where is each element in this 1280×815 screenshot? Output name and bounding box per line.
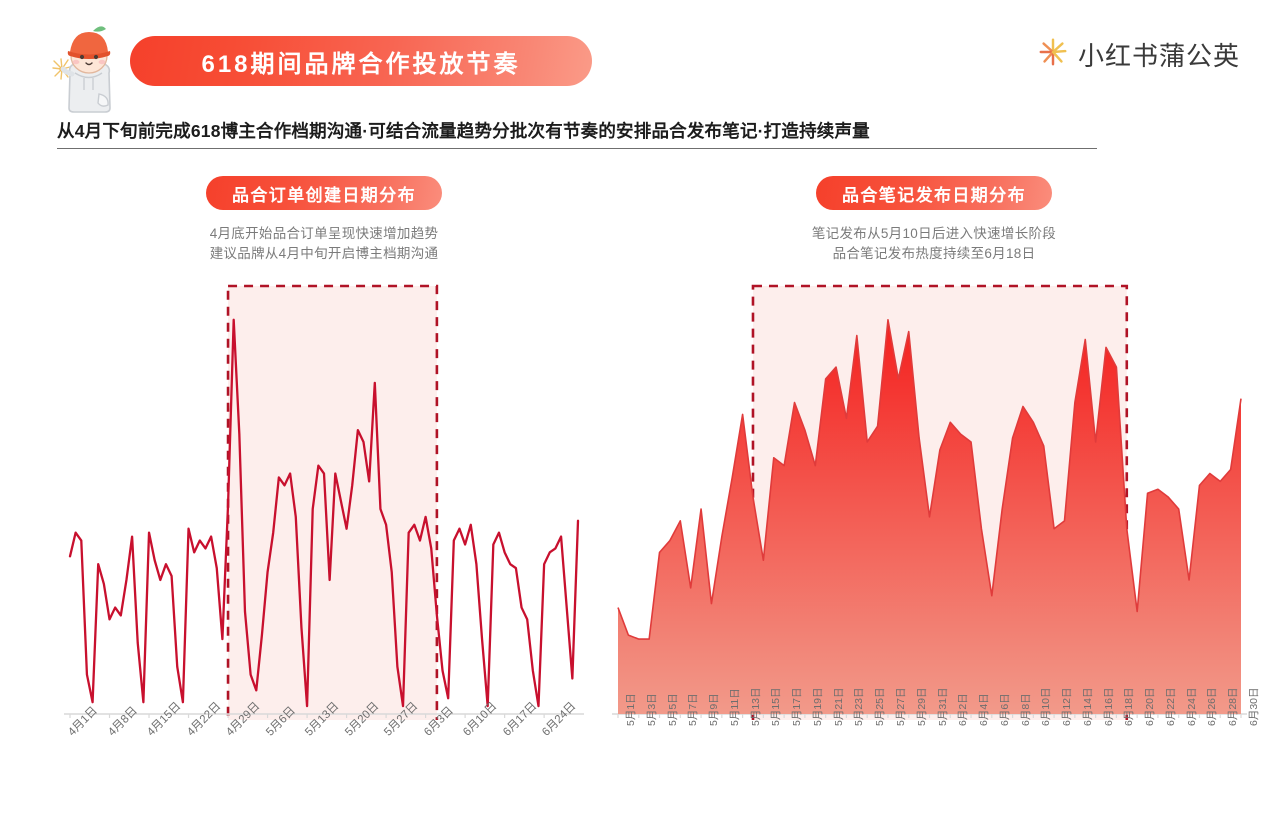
x-axis-tick-label: 5月25日 — [872, 687, 887, 726]
chart-title: 品合笔记发布日期分布 — [842, 181, 1026, 206]
panel-header: 品合订单创建日期分布 4月底开始品合订单呈现快速增加趋势 建议品牌从4月中旬开启… — [44, 176, 604, 264]
chart-note: 4月底开始品合订单呈现快速增加趋势 建议品牌从4月中旬开启博主档期沟通 — [210, 224, 439, 264]
x-axis-tick-label: 5月9日 — [706, 693, 721, 726]
area-chart-note-publish: 5月1日5月3日5月5日5月7日5月9日5月11日5月13日5月15日5月17日… — [608, 280, 1253, 720]
x-axis-tick-label: 5月7日 — [685, 693, 700, 726]
x-axis-tick-label: 6月28日 — [1225, 687, 1240, 726]
x-axis-tick-label: 6月6日 — [997, 693, 1012, 726]
x-axis-tick-label: 5月27日 — [893, 687, 908, 726]
dandelion-sparkle-icon — [1037, 36, 1069, 73]
x-axis-tick-label: 5月17日 — [789, 687, 804, 726]
page-header: 618期间品牌合作投放节奏 小红书蒲公英 — [0, 0, 1280, 110]
page-title: 618期间品牌合作投放节奏 — [201, 44, 520, 79]
chart-note-line1: 4月底开始品合订单呈现快速增加趋势 — [210, 224, 439, 244]
x-axis-tick-label: 5月1日 — [623, 693, 638, 726]
panel-note-publish: 品合笔记发布日期分布 笔记发布从5月10日后进入快速增长阶段 品合笔记发布热度持… — [604, 176, 1264, 720]
x-axis-tick-label: 6月26日 — [1204, 687, 1219, 726]
line-chart-order-creation: 4月1日4月8日4月15日4月22日4月29日5月6日5月13日5月20日5月2… — [52, 280, 592, 720]
x-axis-tick-label: 6月10日 — [1038, 687, 1053, 726]
chart-title-pill: 品合订单创建日期分布 — [206, 176, 442, 210]
x-axis-tick-labels: 5月1日5月3日5月5日5月7日5月9日5月11日5月13日5月15日5月17日… — [608, 720, 1253, 815]
page-subtitle: 从4月下旬前完成618博主合作档期沟通·可结合流量趋势分批次有节奏的安排品合发布… — [57, 118, 1097, 149]
chart-note-line1: 笔记发布从5月10日后进入快速增长阶段 — [812, 224, 1056, 244]
panel-header: 品合笔记发布日期分布 笔记发布从5月10日后进入快速增长阶段 品合笔记发布热度持… — [604, 176, 1264, 264]
panel-order-creation: 品合订单创建日期分布 4月底开始品合订单呈现快速增加趋势 建议品牌从4月中旬开启… — [44, 176, 604, 720]
chart-title-pill: 品合笔记发布日期分布 — [816, 176, 1052, 210]
x-axis-tick-label: 5月15日 — [768, 687, 783, 726]
x-axis-tick-label: 5月23日 — [851, 687, 866, 726]
page-title-banner: 618期间品牌合作投放节奏 — [130, 36, 592, 86]
x-axis-tick-label: 6月12日 — [1059, 687, 1074, 726]
x-axis-tick-label: 5月13日 — [748, 687, 763, 726]
x-axis-tick-label: 6月20日 — [1142, 687, 1157, 726]
chart-title: 品合订单创建日期分布 — [232, 181, 416, 206]
x-axis-tick-label: 6月8日 — [1018, 693, 1033, 726]
x-axis-tick-label: 6月2日 — [955, 693, 970, 726]
x-axis-tick-label: 5月29日 — [914, 687, 929, 726]
chart-note: 笔记发布从5月10日后进入快速增长阶段 品合笔记发布热度持续至6月18日 — [812, 224, 1056, 264]
mascot-character-icon — [44, 22, 136, 118]
chart-note-line2: 品合笔记发布热度持续至6月18日 — [812, 244, 1056, 264]
brand-name: 小红书蒲公英 — [1078, 36, 1240, 73]
x-axis-tick-label: 5月5日 — [665, 693, 680, 726]
brand-logo: 小红书蒲公英 — [1037, 34, 1240, 74]
x-axis-tick-label: 6月24日 — [1184, 687, 1199, 726]
x-axis-tick-label: 6月14日 — [1080, 687, 1095, 726]
x-axis-tick-label: 5月19日 — [810, 687, 825, 726]
x-axis-tick-label: 5月3日 — [644, 693, 659, 726]
x-axis-tick-label: 6月16日 — [1101, 687, 1116, 726]
x-axis-tick-label: 5月31日 — [935, 687, 950, 726]
x-axis-tick-label: 6月18日 — [1121, 687, 1136, 726]
x-axis-tick-label: 5月11日 — [727, 688, 742, 726]
x-axis-tick-label: 6月4日 — [976, 693, 991, 726]
chart-note-line2: 建议品牌从4月中旬开启博主档期沟通 — [210, 244, 439, 264]
x-axis-tick-labels: 4月1日4月8日4月15日4月22日4月29日5月6日5月13日5月20日5月2… — [52, 720, 592, 815]
x-axis-tick-label: 5月21日 — [831, 687, 846, 726]
x-axis-tick-label: 6月22日 — [1163, 687, 1178, 726]
x-axis-tick-label: 6月30日 — [1246, 687, 1261, 726]
